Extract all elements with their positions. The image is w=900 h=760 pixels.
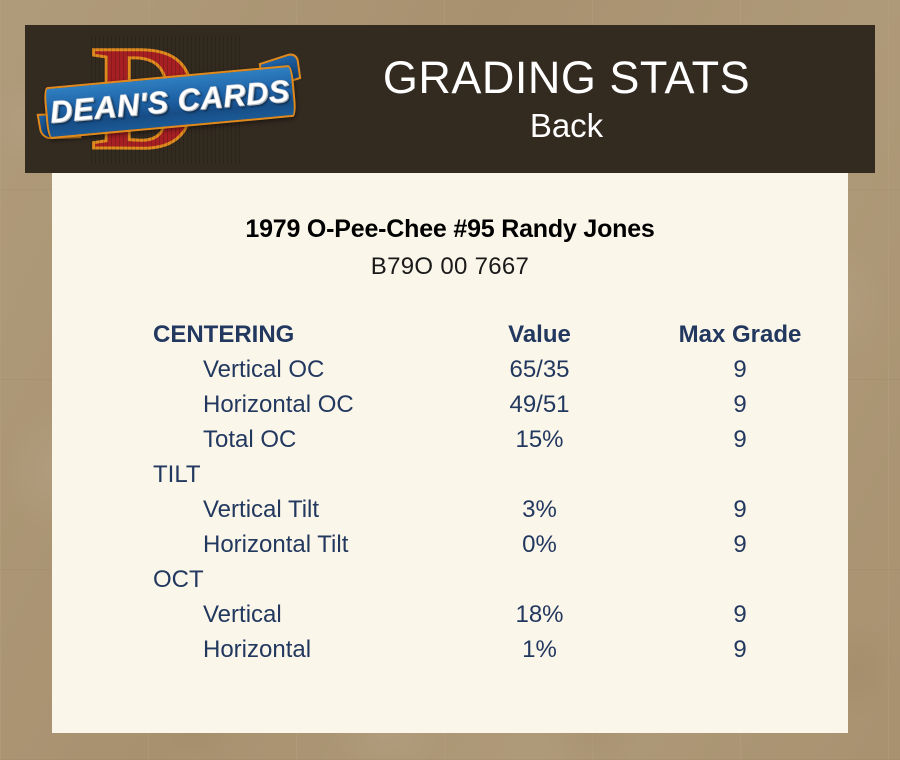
- deans-cards-logo-icon[interactable]: D DEAN'S CARDS: [43, 29, 298, 169]
- table-row: Total OC15%9: [52, 422, 848, 457]
- card-serial-number: B79O 00 7667: [52, 253, 848, 281]
- stat-value: 65/35: [447, 352, 632, 387]
- stat-label: Horizontal Tilt: [52, 527, 447, 562]
- page-title: GRADING STATS: [298, 52, 835, 104]
- table-section-row: OCT: [52, 562, 848, 597]
- stat-label: Vertical Tilt: [52, 492, 447, 527]
- stat-value: 1%: [447, 632, 632, 667]
- stat-label: Horizontal OC: [52, 387, 447, 422]
- column-header-max-grade: Max Grade: [632, 317, 848, 352]
- stat-value: 18%: [447, 597, 632, 632]
- table-row: Horizontal OC49/519: [52, 387, 848, 422]
- stat-max-grade: [632, 457, 848, 492]
- table-head: CENTERING Value Max Grade: [52, 317, 848, 352]
- stat-max-grade: 9: [632, 492, 848, 527]
- section-label: TILT: [52, 457, 447, 492]
- stat-max-grade: 9: [632, 527, 848, 562]
- stat-max-grade: 9: [632, 632, 848, 667]
- stat-value: [447, 457, 632, 492]
- stat-value: 0%: [447, 527, 632, 562]
- stat-label: Horizontal: [52, 632, 447, 667]
- table-row: Horizontal1%9: [52, 632, 848, 667]
- column-header-value: Value: [447, 317, 632, 352]
- page-subtitle: Back: [298, 106, 835, 146]
- stat-label: Vertical OC: [52, 352, 447, 387]
- section-label: OCT: [52, 562, 447, 597]
- header-bar: D DEAN'S CARDS GRADING STATS Back: [25, 25, 875, 173]
- grading-stats-table: CENTERING Value Max Grade Vertical OC65/…: [52, 317, 848, 667]
- stat-value: 15%: [447, 422, 632, 457]
- table-section-row: TILT: [52, 457, 848, 492]
- stat-max-grade: 9: [632, 352, 848, 387]
- table-row: Vertical OC65/359: [52, 352, 848, 387]
- card-title: 1979 O-Pee-Chee #95 Randy Jones: [52, 215, 848, 244]
- stat-max-grade: 9: [632, 387, 848, 422]
- table-row: Vertical18%9: [52, 597, 848, 632]
- stat-value: 3%: [447, 492, 632, 527]
- stat-label: Total OC: [52, 422, 447, 457]
- stat-label: Vertical: [52, 597, 447, 632]
- table-row: Horizontal Tilt0%9: [52, 527, 848, 562]
- stat-value: [447, 562, 632, 597]
- content-panel: 1979 O-Pee-Chee #95 Randy Jones B79O 00 …: [52, 173, 848, 733]
- header-titles: GRADING STATS Back: [298, 52, 875, 146]
- stat-max-grade: 9: [632, 597, 848, 632]
- stat-value: 49/51: [447, 387, 632, 422]
- logo-banner: DEAN'S CARDS: [43, 65, 297, 139]
- stat-max-grade: [632, 562, 848, 597]
- table-header-row: CENTERING Value Max Grade: [52, 317, 848, 352]
- logo-banner-text: DEAN'S CARDS: [48, 73, 291, 131]
- table-body: Vertical OC65/359Horizontal OC49/519Tota…: [52, 352, 848, 667]
- stat-max-grade: 9: [632, 422, 848, 457]
- column-header-category: CENTERING: [52, 317, 447, 352]
- table-row: Vertical Tilt3%9: [52, 492, 848, 527]
